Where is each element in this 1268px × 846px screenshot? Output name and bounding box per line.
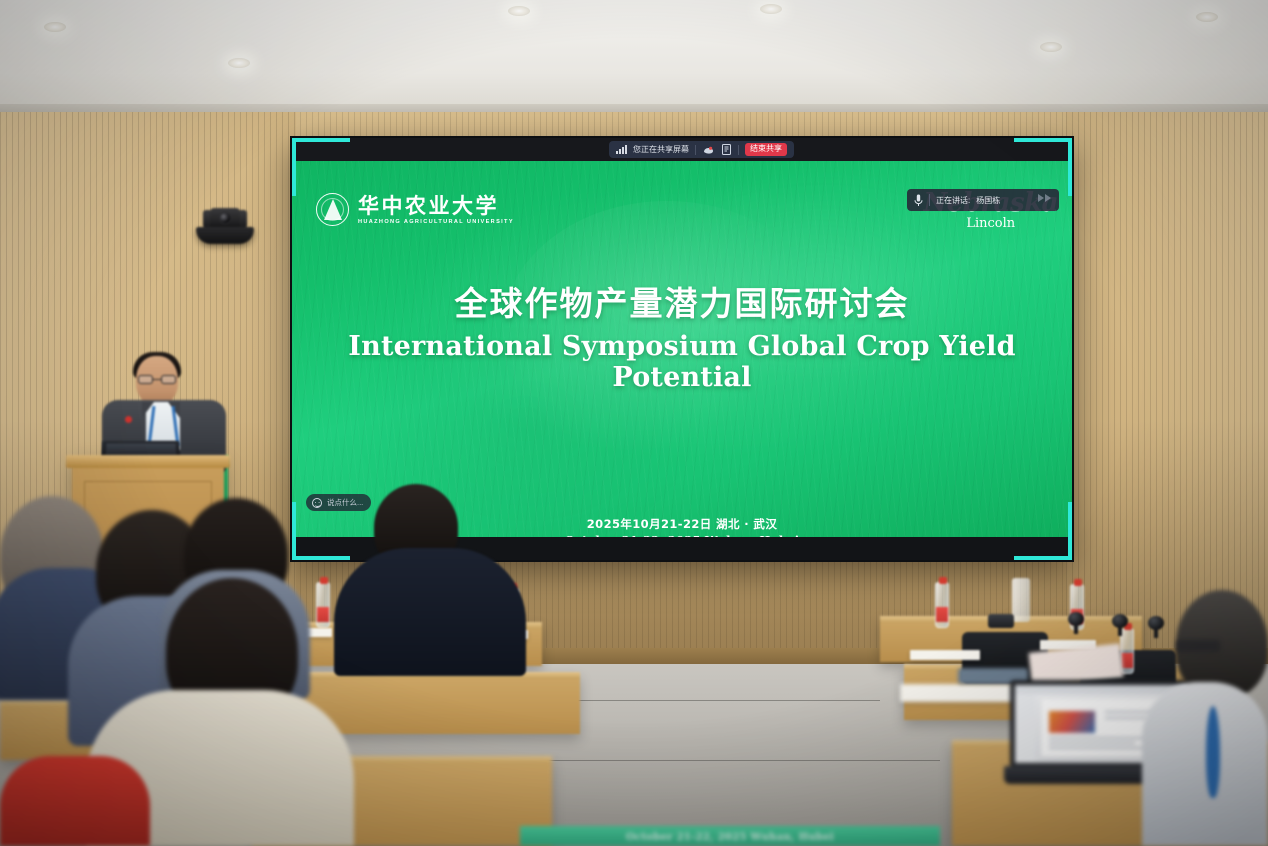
lanyard	[1206, 706, 1220, 798]
stage-banner-text: October 21-22, 2025 Wuhan, Hubei	[520, 832, 940, 843]
hzau-name-cn: 华中农业大学	[358, 194, 514, 217]
ceiling-light	[44, 22, 66, 32]
stage-banner: October 21-22, 2025 Wuhan, Hubei	[520, 826, 940, 846]
speaking-name: 杨国栋	[976, 195, 1000, 206]
glass-tumbler	[1012, 578, 1030, 622]
nebraska-campus: Lincoln	[923, 217, 1058, 231]
audience-shoulders	[1142, 682, 1268, 846]
water-bottle	[316, 582, 330, 628]
speaking-label: 正在讲话:	[936, 195, 970, 206]
hzau-name-en: HUAZHONG AGRICULTURAL UNIVERSITY	[358, 219, 514, 225]
signal-bars-icon	[616, 145, 627, 154]
floor-seam	[560, 700, 880, 701]
lapel-pin	[125, 416, 132, 423]
hzau-logo: 华中农业大学 HUAZHONG AGRICULTURAL UNIVERSITY	[316, 193, 514, 226]
ptz-camera-icon	[196, 208, 254, 250]
floor-seam	[520, 760, 940, 761]
corner-bracket-top-left	[292, 138, 350, 196]
audience-shoulders	[0, 756, 150, 846]
conference-microphone	[1068, 612, 1084, 634]
slide-title-en: International Symposium Global Crop Yiel…	[292, 331, 1072, 393]
microphone-icon	[914, 194, 923, 207]
conference-microphone	[1112, 614, 1128, 636]
slide-title-cn: 全球作物产量潜力国际研讨会	[292, 277, 1072, 325]
glasses-icon	[138, 375, 176, 384]
ceiling	[0, 0, 1268, 118]
corner-bracket-top-right	[1014, 138, 1072, 196]
share-status-text: 您正在共享屏幕	[633, 146, 689, 154]
corner-bracket-bottom-right	[1014, 502, 1072, 560]
glasses-icon	[1176, 640, 1220, 652]
ceiling-light	[508, 6, 530, 16]
water-bottle	[935, 582, 949, 628]
ceiling-light	[228, 58, 250, 68]
conference-room-photo: 您正在共享屏幕 结束共享	[0, 0, 1268, 846]
corner-bracket-bottom-left	[292, 502, 350, 560]
notes-icon[interactable]	[720, 144, 732, 155]
desk-device	[988, 614, 1014, 628]
ceiling-light	[760, 4, 782, 14]
paper-sheet	[910, 650, 980, 660]
ceiling-light	[1040, 42, 1062, 52]
stop-share-button[interactable]: 结束共享	[745, 143, 787, 155]
ceiling-light	[1196, 12, 1218, 22]
annotate-icon[interactable]	[702, 144, 714, 155]
presentation-slide: 华中农业大学 HUAZHONG AGRICULTURAL UNIVERSITY …	[292, 161, 1072, 537]
conference-microphone	[1148, 616, 1164, 638]
audience-shoulders	[334, 548, 526, 676]
hzau-crest-icon	[316, 193, 349, 226]
share-status-pill: 您正在共享屏幕 结束共享	[609, 141, 794, 158]
screen-share-toolbar: 您正在共享屏幕 结束共享	[292, 138, 1072, 161]
paper-sheet	[900, 684, 1020, 702]
